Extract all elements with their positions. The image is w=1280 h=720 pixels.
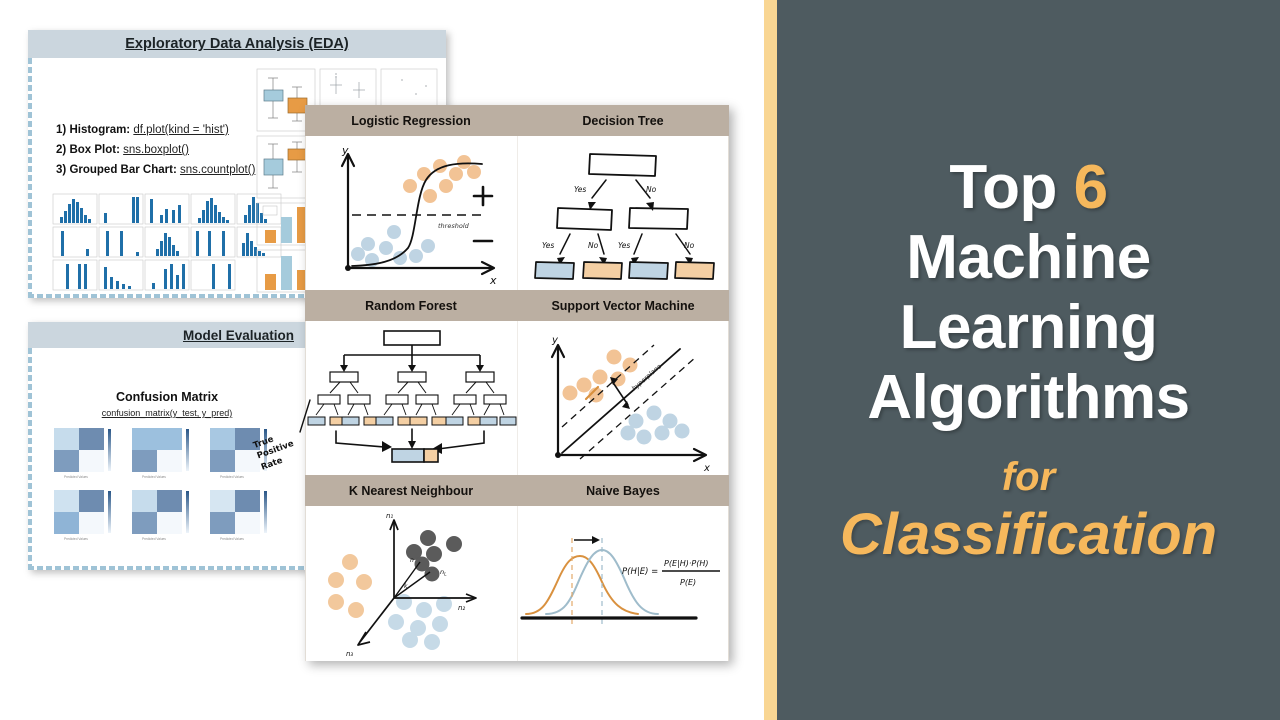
svg-text:k: k	[404, 583, 408, 590]
title-main: Top 6 Machine Learning Algorithms	[867, 153, 1189, 433]
dt-branch-label: Yes	[618, 241, 630, 250]
eda-item-code: sns.boxplot()	[123, 144, 189, 156]
algo-body-row-2: hyperplane y x	[305, 321, 729, 475]
svg-text:Predicted Values: Predicted Values	[64, 537, 88, 541]
svm-x-axis-label: x	[703, 463, 710, 474]
algo-title-naive-bayes: Naive Bayes	[517, 475, 729, 506]
eda-item-code: sns.countplot()	[180, 164, 255, 176]
eda-item-label: Box Plot:	[69, 144, 119, 156]
lr-y-axis-label: y	[341, 144, 349, 157]
diagram-logistic-regression: threshold y x	[306, 136, 517, 290]
me-bottom-rail	[28, 566, 306, 570]
algo-header-row-3: K Nearest Neighbour Naive Bayes	[305, 475, 729, 506]
diagram-k-nearest-neighbour: n₁ n₂ n₃ n nL k	[306, 506, 517, 661]
algorithms-card: Logistic Regression Decision Tree	[305, 105, 729, 661]
nb-formula-left: P(H|E) =	[622, 567, 658, 577]
eda-item-label: Histogram:	[69, 124, 130, 136]
knn-axis-label-n3: n₃	[346, 650, 353, 658]
algo-header-row-2: Random Forest Support Vector Machine	[305, 290, 729, 321]
algo-body-row-1: threshold y x	[305, 136, 729, 290]
accent-strip	[764, 0, 777, 720]
eda-header-label: Exploratory Data Analysis (EDA)	[125, 36, 348, 52]
subtitle-for: for	[840, 455, 1217, 499]
eda-item-number: 1)	[56, 124, 66, 136]
diagram-decision-tree: Yes No Yes No Yes No	[517, 136, 729, 290]
histogram-grid-thumbnail	[52, 193, 284, 291]
diagram-naive-bayes: P(H|E) = P(E|H)·P(H) P(E)	[517, 506, 729, 661]
lr-x-axis-label: x	[489, 274, 497, 287]
confusion-matrix-title: Confusion Matrix	[28, 390, 306, 404]
title-line-2: Machine	[867, 223, 1189, 293]
algo-title-k-nearest-neighbour: K Nearest Neighbour	[305, 475, 517, 506]
me-left-rail	[28, 348, 32, 570]
dt-branch-label: Yes	[574, 185, 586, 194]
threshold-label: threshold	[438, 222, 470, 230]
algo-title-support-vector-machine: Support Vector Machine	[517, 290, 729, 321]
title-line-1: Top 6	[867, 153, 1189, 223]
svg-text:n: n	[410, 557, 414, 564]
svg-text:Predicted Values: Predicted Values	[64, 475, 88, 479]
model-evaluation-header: Model Evaluation	[28, 322, 306, 348]
diagram-random-forest	[306, 321, 517, 475]
knn-axis-label-n2: n₂	[458, 604, 465, 612]
eda-list-item: 2) Box Plot: sns.boxplot()	[56, 140, 255, 160]
algo-body-row-3: n₁ n₂ n₃ n nL k	[305, 506, 729, 661]
eda-header: Exploratory Data Analysis (EDA)	[28, 30, 446, 58]
model-evaluation-header-label: Model Evaluation	[183, 328, 294, 343]
dt-branch-label: No	[588, 241, 599, 250]
eda-item-number: 3)	[56, 164, 66, 176]
algo-title-random-forest: Random Forest	[305, 290, 517, 321]
algo-title-decision-tree: Decision Tree	[517, 105, 729, 136]
eda-left-rail	[28, 58, 32, 298]
title-number: 6	[1074, 153, 1108, 222]
knn-axis-label-n1: n₁	[386, 512, 393, 520]
algo-header-row-1: Logistic Regression Decision Tree	[305, 105, 729, 136]
title-panel: Top 6 Machine Learning Algorithms for Cl…	[777, 0, 1280, 720]
subtitle-topic: Classification	[840, 503, 1217, 567]
eda-item-code: df.plot(kind = 'hist')	[133, 124, 228, 136]
title-subtitle: for Classification	[840, 455, 1217, 567]
title-top-word: Top	[949, 153, 1073, 222]
dt-branch-label: Yes	[542, 241, 554, 250]
eda-item-number: 2)	[56, 144, 66, 156]
svg-text:Predicted Values: Predicted Values	[220, 537, 244, 541]
svg-text:Predicted Values: Predicted Values	[142, 475, 166, 479]
confusion-matrix-code: confusion_matrix(y_test, y_pred)	[28, 408, 306, 418]
nb-formula-denominator: P(E)	[680, 578, 696, 587]
slide-canvas: Exploratory Data Analysis (EDA) 1) Histo…	[0, 0, 1280, 720]
svg-text:Predicted Values: Predicted Values	[142, 537, 166, 541]
knn-neighbour-label: nL	[440, 568, 447, 578]
title-line-4: Algorithms	[867, 363, 1189, 433]
algo-title-logistic-regression: Logistic Regression	[305, 105, 517, 136]
dt-branch-label: No	[684, 241, 695, 250]
svg-text:Predicted Values: Predicted Values	[220, 475, 244, 479]
svm-y-axis-label: y	[551, 335, 559, 346]
eda-item-label: Grouped Bar Chart:	[69, 164, 176, 176]
eda-method-list: 1) Histogram: df.plot(kind = 'hist') 2) …	[56, 120, 255, 180]
nb-formula-numerator: P(E|H)·P(H)	[664, 559, 708, 568]
dt-branch-label: No	[646, 185, 657, 194]
diagram-support-vector-machine: hyperplane y x	[517, 321, 729, 475]
eda-list-item: 3) Grouped Bar Chart: sns.countplot()	[56, 160, 255, 180]
tpr-pointer-line	[290, 398, 314, 438]
eda-list-item: 1) Histogram: df.plot(kind = 'hist')	[56, 120, 255, 140]
title-line-3: Learning	[867, 293, 1189, 363]
